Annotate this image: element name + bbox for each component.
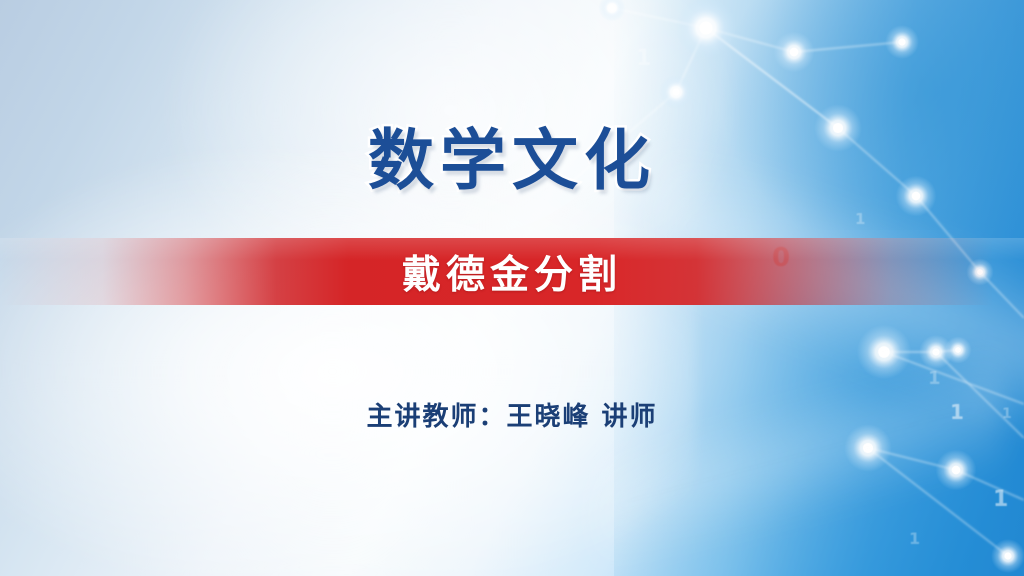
background-digit: 1 <box>909 529 920 548</box>
background-digit: 1 <box>993 487 1008 512</box>
slide-title: 数学文化 <box>0 128 1024 194</box>
presenter-line: 主讲教师：王晓峰 讲师 <box>0 396 1024 433</box>
network-node <box>609 5 615 11</box>
background-digit: 1 <box>928 368 941 389</box>
background-digit: 1 <box>636 46 651 71</box>
presentation-slide: 10111111 数学文化 戴德金分割 主讲教师：王晓峰 讲师 <box>0 0 1024 576</box>
slide-subtitle: 戴德金分割 <box>402 244 622 300</box>
background-digit: 1 <box>855 210 865 228</box>
subtitle-banner: 戴德金分割 <box>0 238 1024 305</box>
